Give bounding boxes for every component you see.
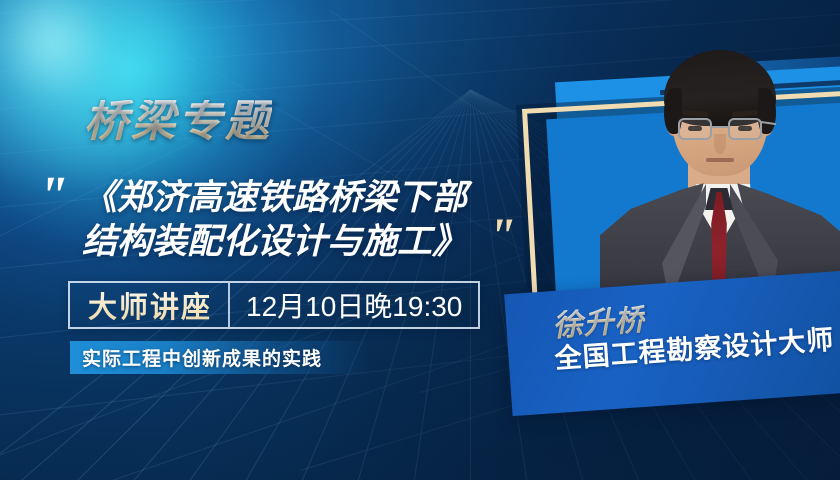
- lecture-info-box: 大师讲座 12月10日晚19:30: [68, 281, 480, 329]
- lecture-label: 大师讲座: [70, 283, 228, 327]
- glasses-lens-right-icon: [728, 118, 762, 140]
- glasses-bridge-icon: [712, 126, 728, 128]
- glasses-lens-left-icon: [678, 118, 712, 140]
- quote-close-icon: ": [488, 210, 513, 260]
- lecture-datetime: 12月10日晚19:30: [230, 283, 478, 327]
- speaker-name: 徐升桥: [551, 305, 646, 343]
- book-title-line-2: 结构装配化设计与施工》: [82, 220, 502, 264]
- book-title-line-1: 《郑济高速铁路桥梁下部: [82, 178, 467, 217]
- subtitle-bar-text: 实际工程中创新成果的实践: [70, 344, 322, 371]
- page-title: 桥梁专题: [84, 100, 272, 144]
- book-title: 《郑济高速铁路桥梁下部 结构装配化设计与施工》: [82, 176, 502, 264]
- promo-poster: 徐升桥 全国工程勘察设计大师 桥梁专题 " 《郑济高速铁路桥梁下部 结构装配化设…: [0, 0, 840, 480]
- speaker-nameplate-content: 徐升桥 全国工程勘察设计大师: [504, 270, 840, 416]
- quote-open-icon: ": [38, 168, 65, 222]
- speaker-portrait: [600, 16, 840, 316]
- portrait-nose: [714, 134, 726, 154]
- portrait-mouth: [706, 158, 734, 162]
- subtitle-bar: 实际工程中创新成果的实践: [70, 341, 370, 374]
